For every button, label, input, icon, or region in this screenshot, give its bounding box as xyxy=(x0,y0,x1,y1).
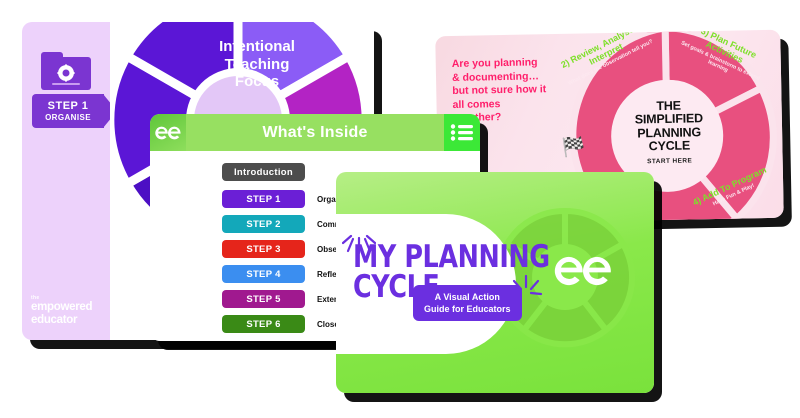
empowered-educator-logo: the empowered educator xyxy=(31,295,92,326)
row-pill: Introduction xyxy=(222,163,305,181)
row-pill: STEP 3 xyxy=(222,240,305,258)
wheel-title-line-1: Intentional xyxy=(182,38,332,56)
subtitle-line-2: Guide for Educators xyxy=(424,303,511,315)
row-pill: STEP 5 xyxy=(222,290,305,308)
brand-line2: educator xyxy=(31,314,92,327)
my-planning-cycle-cover[interactable]: MY PLANNING CYCLE A Visual Action Guide … xyxy=(336,172,654,393)
brand-line1: empowered xyxy=(31,301,92,314)
bulleted-list-icon[interactable] xyxy=(444,114,480,151)
row-pill: STEP 4 xyxy=(222,265,305,283)
purple-sidebar-rail: STEP 1 ORGANISE the empowered educator xyxy=(22,22,110,340)
subtitle-badge: A Visual Action Guide for Educators xyxy=(413,285,522,321)
wheel-title: Intentional Teaching Focus xyxy=(182,38,332,91)
whats-inside-header: What's Inside xyxy=(150,114,480,151)
folder-gear-icon xyxy=(41,52,91,90)
row-pill: STEP 2 xyxy=(222,215,305,233)
hub-cta: START HERE xyxy=(647,157,692,165)
ee-logo xyxy=(552,254,614,293)
hub-line-4: CYCLE xyxy=(649,139,691,153)
row-pill: STEP 6 xyxy=(222,315,305,333)
cover-title-line-1: MY PLANNING xyxy=(353,242,550,272)
subtitle-line-1: A Visual Action xyxy=(424,291,511,303)
step-badge-line1: STEP 1 xyxy=(48,100,89,112)
checkered-flag-icon: 🏁 xyxy=(561,135,585,159)
step-badge: STEP 1 ORGANISE xyxy=(32,94,104,128)
ee-logo xyxy=(150,114,186,151)
wheel-title-line-3: Focus xyxy=(182,73,332,91)
row-pill: STEP 1 xyxy=(222,190,305,208)
screenshot-stage: STEP 1 ORGANISE the empowered educator xyxy=(0,0,800,418)
whats-inside-title: What's Inside xyxy=(262,124,367,142)
step-badge-line2: ORGANISE xyxy=(45,112,91,123)
wheel-title-line-2: Teaching xyxy=(182,56,332,74)
